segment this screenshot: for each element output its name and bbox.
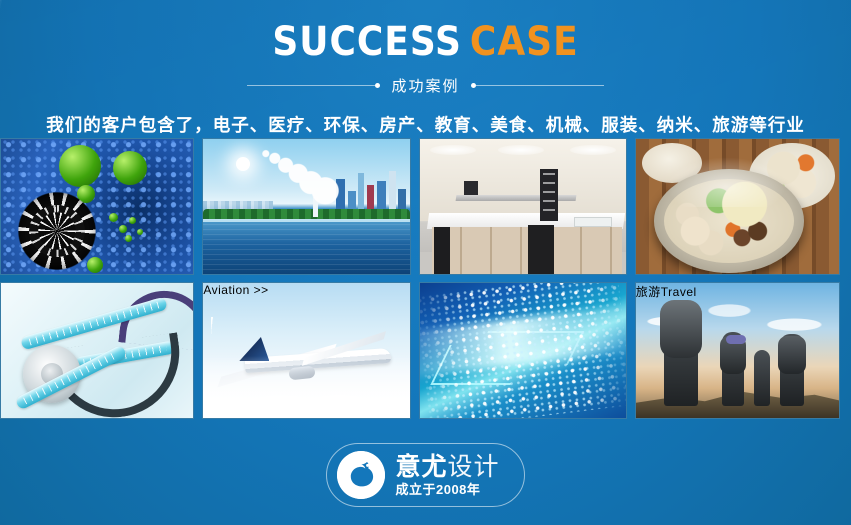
divider-line-left	[247, 85, 375, 86]
case-tile-nanotechnology[interactable]	[0, 138, 194, 275]
laboratory-image	[420, 139, 626, 274]
banner-header: SUCCESSCASE 成功案例 我们的客户包含了，电子、医疗、环保、房产、教育…	[0, 0, 851, 137]
case-tile-travel[interactable]: 旅游Travel	[635, 282, 840, 419]
gallery-row-2: Aviation >> 旅游Tr	[0, 282, 851, 419]
aviation-caption: Aviation >>	[203, 283, 268, 297]
title-accent: CASE	[470, 19, 579, 65]
case-gallery: Aviation >> 旅游Tr	[0, 138, 851, 426]
electronics-image	[420, 283, 626, 418]
page-title: SUCCESSCASE	[0, 22, 851, 62]
brand-name-thin: 设计	[448, 453, 500, 481]
case-tile-medical[interactable]	[0, 282, 194, 419]
case-tile-electronics[interactable]	[419, 282, 627, 419]
brand-pill[interactable]: 意尤设计 成立于2008年	[326, 443, 524, 507]
divider-line-right	[476, 85, 604, 86]
subtitle-row: 成功案例	[0, 75, 851, 96]
case-tile-laboratory[interactable]	[419, 138, 627, 275]
brand-footer: 意尤设计 成立于2008年	[0, 443, 851, 507]
brand-name-bold: 意尤	[395, 453, 447, 481]
case-tile-food[interactable]	[635, 138, 840, 275]
environmental-image	[203, 139, 409, 274]
title-main: SUCCESS	[272, 19, 462, 65]
subtitle-chinese: 成功案例	[383, 75, 467, 96]
nanotechnology-image	[1, 139, 193, 274]
bird-swirl-logo-icon	[337, 451, 385, 499]
gallery-row-1	[0, 138, 851, 275]
brand-name: 意尤设计	[395, 454, 499, 480]
aviation-image	[203, 283, 409, 418]
case-tile-environmental[interactable]	[202, 138, 410, 275]
travel-caption: 旅游Travel	[636, 283, 697, 300]
medical-image	[1, 283, 193, 418]
brand-text: 意尤设计 成立于2008年	[395, 454, 499, 497]
food-image	[636, 139, 839, 274]
success-case-banner: SUCCESSCASE 成功案例 我们的客户包含了，电子、医疗、环保、房产、教育…	[0, 0, 851, 525]
travel-image	[636, 283, 839, 418]
case-tile-aviation[interactable]: Aviation >>	[202, 282, 410, 419]
brand-established: 成立于2008年	[395, 483, 480, 497]
tagline-text: 我们的客户包含了，电子、医疗、环保、房产、教育、美食、机械、服装、纳米、旅游等行…	[0, 112, 851, 137]
